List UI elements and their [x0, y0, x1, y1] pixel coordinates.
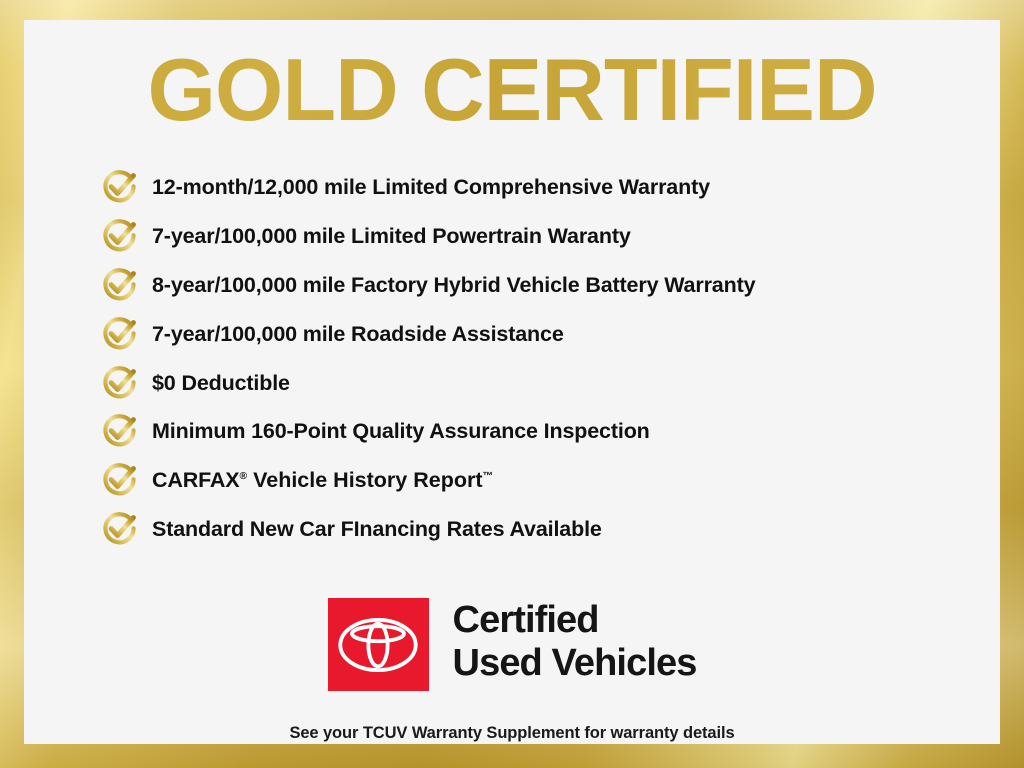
- lockup-line-2: Used Vehicles: [453, 642, 697, 685]
- lockup-line-1: Certified: [453, 599, 697, 642]
- list-item: 7-year/100,000 mile Limited Powertrain W…: [98, 212, 978, 261]
- warranty-footnote: See your TCUV Warranty Supplement for wa…: [24, 723, 1000, 743]
- list-item: 12-month/12,000 mile Limited Comprehensi…: [98, 163, 978, 212]
- page-title: GOLD CERTIFIED: [24, 42, 1000, 138]
- list-item: 7-year/100,000 mile Roadside Assistance: [98, 309, 978, 358]
- lockup-text: Certified Used Vehicles: [453, 598, 697, 685]
- carfax-wordmark: CARFAX: [152, 468, 240, 492]
- gold-check-circle-icon: [98, 263, 142, 307]
- list-item-label: Minimum 160-Point Quality Assurance Insp…: [152, 419, 650, 443]
- gold-check-circle-icon: [98, 312, 142, 356]
- list-item-label: Standard New Car FInancing Rates Availab…: [152, 517, 602, 541]
- toyota-logo: [328, 598, 429, 691]
- list-item-label: CARFAX® Vehicle History Report™: [152, 468, 493, 492]
- list-item-label: 12-month/12,000 mile Limited Comprehensi…: [152, 175, 710, 199]
- certificate-card: GOLD CERTIFIED: [24, 20, 1000, 744]
- list-item: CARFAX® Vehicle History Report™: [98, 456, 978, 505]
- gold-check-circle-icon: [98, 409, 142, 453]
- gold-certified-certificate: GOLD CERTIFIED: [0, 0, 1024, 768]
- list-item-label: $0 Deductible: [152, 371, 290, 395]
- list-item: Minimum 160-Point Quality Assurance Insp…: [98, 407, 978, 456]
- list-item: 8-year/100,000 mile Factory Hybrid Vehic…: [98, 261, 978, 310]
- toyota-certified-used-vehicles-lockup: Certified Used Vehicles: [24, 598, 1000, 691]
- list-item-label: 7-year/100,000 mile Roadside Assistance: [152, 322, 564, 346]
- registered-mark: ®: [240, 471, 248, 482]
- benefits-list: 12-month/12,000 mile Limited Comprehensi…: [98, 163, 978, 553]
- gold-check-circle-icon: [98, 458, 142, 502]
- gold-check-circle-icon: [98, 507, 142, 551]
- list-item: Standard New Car FInancing Rates Availab…: [98, 505, 978, 554]
- carfax-description: Vehicle History Report: [247, 468, 482, 492]
- list-item-label: 7-year/100,000 mile Limited Powertrain W…: [152, 224, 631, 248]
- gold-check-circle-icon: [98, 165, 142, 209]
- trademark-mark: ™: [483, 471, 493, 482]
- list-item-label: 8-year/100,000 mile Factory Hybrid Vehic…: [152, 273, 755, 297]
- gold-check-circle-icon: [98, 214, 142, 258]
- list-item: $0 Deductible: [98, 358, 978, 407]
- gold-check-circle-icon: [98, 361, 142, 405]
